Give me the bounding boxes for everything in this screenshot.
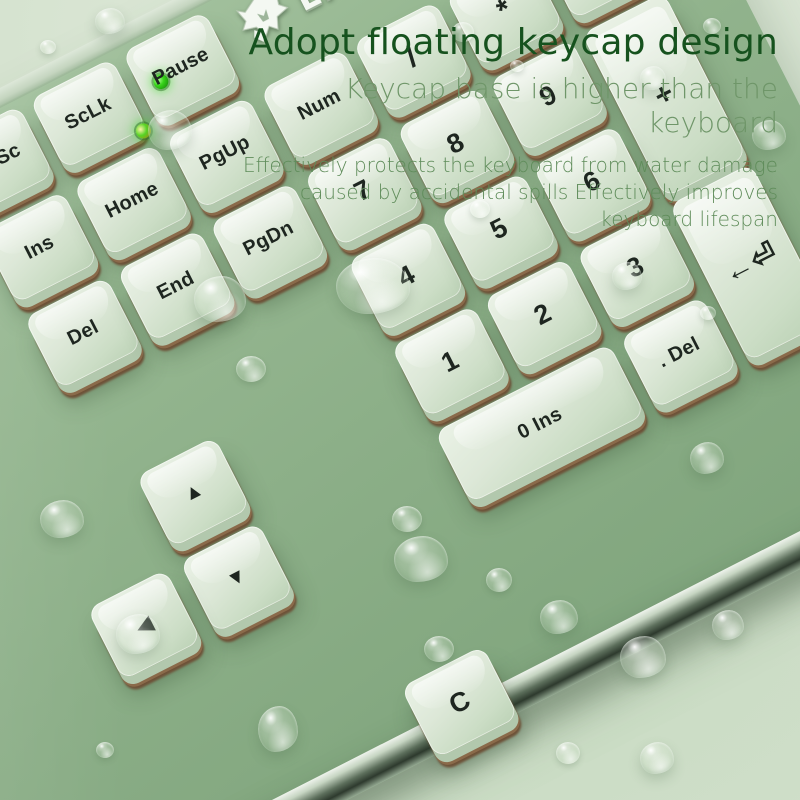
keycap-label: ←⏎ <box>717 234 783 290</box>
keycap-label: ▼ <box>223 563 251 593</box>
keycap-label: Home <box>102 177 163 223</box>
keycap-label: End <box>153 267 198 305</box>
keycap-label: ▲ <box>179 477 207 507</box>
marketing-copy: Adopt floating keycap design Keycap base… <box>218 22 778 233</box>
keycap-label: Del <box>64 315 103 350</box>
keycap-label: C <box>444 684 476 721</box>
product-image: F9F10F11F12PrtScScLkPause+←InsHomePgUp\ … <box>0 0 800 800</box>
keycap-label: 0 Ins <box>514 402 566 444</box>
subtitle: Keycap base is higher than the keyboard <box>218 72 778 139</box>
keycap-label: PrtSc <box>0 138 25 183</box>
body-text: Effectively protects the keyboard from w… <box>218 152 778 233</box>
keycap-label: . Del <box>654 332 703 372</box>
keycap-label: ScLk <box>61 92 115 135</box>
keycap-label: 4 <box>392 259 420 294</box>
keycap-label: ◀ <box>132 610 157 639</box>
keycap-label: 1 <box>436 344 464 379</box>
keycap-label: Ins <box>21 230 58 264</box>
page-title: Adopt floating keycap design <box>218 22 778 63</box>
keycap-label: 2 <box>529 297 557 332</box>
keycap-label: Pause <box>149 43 213 91</box>
keycap-label: 3 <box>621 250 649 285</box>
